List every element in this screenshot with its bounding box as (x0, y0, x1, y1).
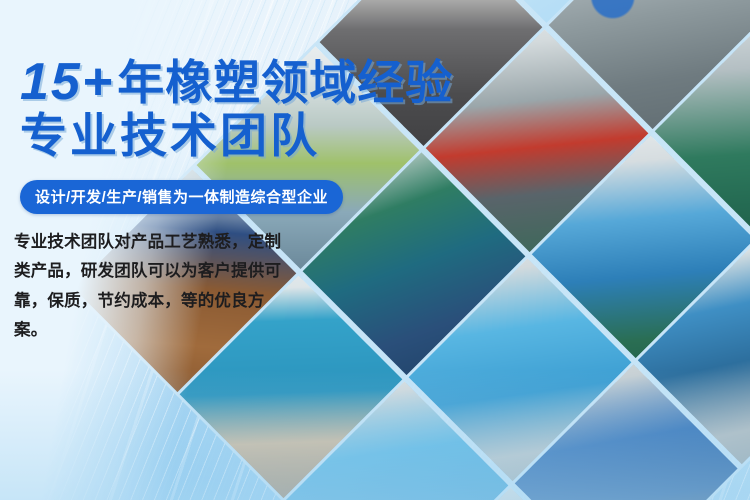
years-number: 15+ (20, 53, 117, 111)
company-profile-banner: 15+年橡塑领域经验 专业技术团队 设计/开发/生产/销售为一体制造综合型企业 … (0, 0, 750, 500)
headline-primary: 15+年橡塑领域经验 (20, 56, 453, 108)
body-paragraph: 专业技术团队对产品工艺熟悉，定制类产品，研发团队可以为客户提供可靠，保质，节约成… (14, 228, 286, 345)
capability-badge: 设计/开发/生产/销售为一体制造综合型企业 (20, 180, 343, 214)
text-block: 15+年橡塑领域经验 专业技术团队 设计/开发/生产/销售为一体制造综合型企业 … (0, 0, 470, 500)
headline-primary-suffix: 年橡塑领域经验 (117, 56, 453, 109)
headline-secondary: 专业技术团队 (20, 112, 320, 159)
